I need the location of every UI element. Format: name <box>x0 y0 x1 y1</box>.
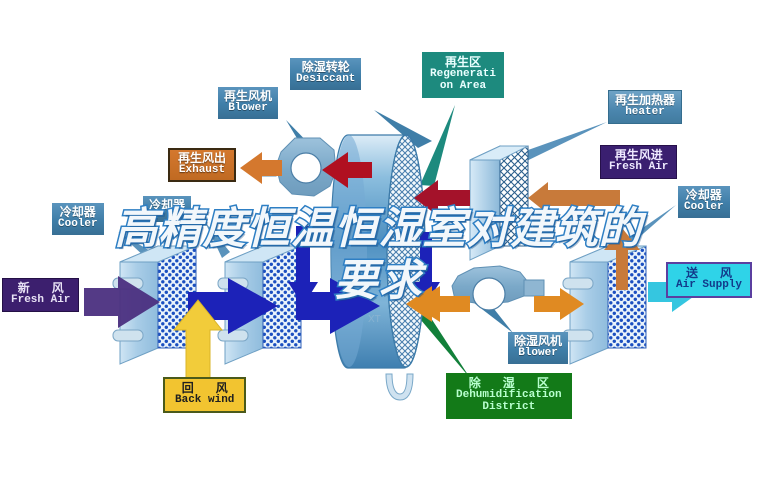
label-regen-blower-en: Blower <box>224 103 272 115</box>
label-dehum-blower-cn: 除湿风机 <box>514 335 562 348</box>
label-regeneration-area[interactable]: 再生区 Regenerati on Area <box>422 52 504 98</box>
label-exhaust[interactable]: 再生风出 Exhaust <box>168 148 236 182</box>
label-dehumidification-district[interactable]: 除湿区 Dehumidification District <box>446 373 572 419</box>
label-regen-heater[interactable]: 再生加热器 heater <box>608 90 682 124</box>
diagram-canvas: XT <box>0 0 757 488</box>
label-air-supply[interactable]: 送风 Air Supply <box>666 262 752 298</box>
label-cooler-left[interactable]: 冷却器 Cooler <box>52 203 104 235</box>
label-dehum-blower[interactable]: 除湿风机 Blower <box>508 332 568 364</box>
label-regen-heater-cn: 再生加热器 <box>615 94 675 107</box>
label-back-wind-en: Back wind <box>175 395 234 407</box>
label-cooler-right[interactable]: 冷却器 Cooler <box>678 186 730 218</box>
label-fresh-air-in-en: Fresh Air <box>11 295 70 307</box>
label-cooler-right-en: Cooler <box>684 202 724 214</box>
label-desiccant-rotor[interactable]: 除湿转轮 Desiccant <box>290 58 361 90</box>
label-dehum-blower-en: Blower <box>514 348 562 360</box>
label-back-wind[interactable]: 回风 Back wind <box>163 377 246 413</box>
label-cooler-right-cn: 冷却器 <box>684 189 724 202</box>
label-air-supply-en: Air Supply <box>676 280 742 292</box>
label-desiccant-rotor-en: Desiccant <box>296 74 355 86</box>
label-back-wind-cn: 回风 <box>175 382 234 395</box>
dehumidifier-schematic: XT <box>0 0 757 488</box>
label-cooler-left-cn: 冷却器 <box>58 206 98 219</box>
label-cooler-mid-cn: 冷却器 <box>149 199 185 212</box>
label-cooler-left-en: Cooler <box>58 219 98 231</box>
label-fresh-air-regen-cn: 再生风进 <box>609 149 668 162</box>
label-exhaust-en: Exhaust <box>178 165 226 177</box>
label-dehumidification-district-en2: District <box>456 402 562 414</box>
label-regeneration-area-en2: on Area <box>430 81 496 93</box>
label-dehumidification-district-cn: 除湿区 <box>456 377 562 390</box>
label-desiccant-rotor-cn: 除湿转轮 <box>296 61 355 74</box>
label-regen-blower[interactable]: 再生风机 Blower <box>218 87 278 119</box>
label-regeneration-area-cn: 再生区 <box>430 56 496 69</box>
svg-text:XT: XT <box>368 314 381 325</box>
label-regen-blower-cn: 再生风机 <box>224 90 272 103</box>
label-fresh-air-regen[interactable]: 再生风进 Fresh Air <box>600 145 677 179</box>
regen-heater-coil <box>470 146 528 260</box>
label-fresh-air-regen-en: Fresh Air <box>609 162 668 174</box>
label-cooler-mid[interactable]: 冷却器 <box>143 196 191 222</box>
label-exhaust-cn: 再生风出 <box>178 152 226 165</box>
label-fresh-air-in[interactable]: 新风 Fresh Air <box>2 278 79 312</box>
label-fresh-air-in-cn: 新风 <box>11 282 70 295</box>
label-air-supply-cn: 送风 <box>676 267 742 280</box>
label-regen-heater-en: heater <box>615 107 675 119</box>
